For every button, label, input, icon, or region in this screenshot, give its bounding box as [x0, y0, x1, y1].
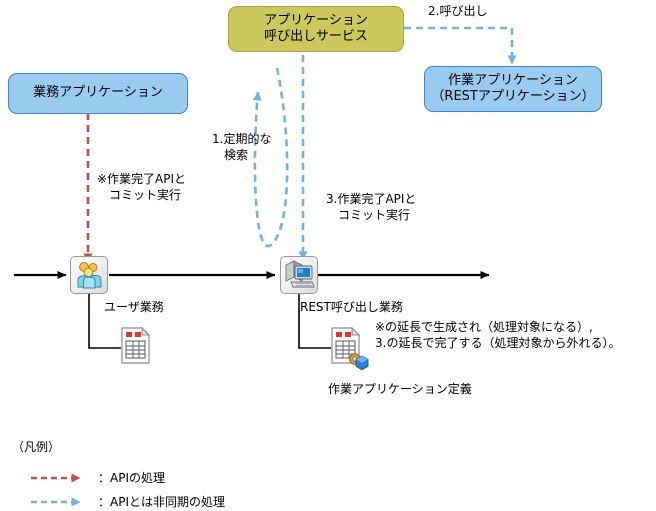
computer-network-icon-glyph: [281, 257, 317, 293]
spreadsheet-document-icon: [120, 326, 152, 366]
label-step-1-periodic-search: 1.定期的な 検索: [212, 132, 271, 163]
box-business-application[interactable]: 業務アプリケーション: [8, 73, 188, 114]
label-generation-completion-annotation: ※の延長で生成され（処理対象になる）, 3.の延長で完了する（処理対象から外れる…: [375, 320, 620, 351]
users-group-icon: [70, 256, 108, 294]
legend-item-api-process: ：APIの処理: [30, 469, 165, 486]
legend-item-async-process: ：APIとは非同期の処理: [30, 493, 225, 510]
label-user-task: ユーザ業務: [104, 300, 164, 316]
blue-dashed-arrow-icon: [30, 496, 88, 508]
label-work-application-definition: 作業アプリケーション定義: [328, 382, 472, 398]
computer-network-icon: [280, 256, 318, 294]
spreadsheet-document-config-icon-glyph: [330, 326, 374, 372]
label-step-3-complete-api-commit: 3.作業完了APIと コミット実行: [326, 192, 416, 223]
label-step-2-invoke: 2.呼び出し: [428, 4, 487, 20]
label-note-api-commit: ※作業完了APIと コミット実行: [97, 172, 186, 203]
legend-label-async-process: ：APIとは非同期の処理: [98, 493, 225, 510]
box-work-application[interactable]: 作業アプリケーション （RESTアプリケーション）: [424, 66, 602, 112]
red-dashed-arrow-icon: [30, 472, 88, 484]
legend-label-api-process: ：APIの処理: [98, 469, 165, 486]
blue-dashed-arrow-invoke: [404, 28, 512, 64]
box-application-invoke-service[interactable]: アプリケーション 呼び出しサービス: [228, 6, 404, 52]
diagram-canvas: 業務アプリケーション アプリケーション 呼び出しサービス 作業アプリケーション …: [0, 0, 656, 511]
spreadsheet-document-icon-glyph: [120, 326, 152, 366]
users-group-icon-glyph: [71, 257, 107, 293]
label-rest-invoke-task: REST呼び出し業務: [300, 300, 403, 316]
spreadsheet-document-config-icon: [330, 326, 374, 372]
legend-title: （凡例）: [12, 440, 60, 456]
